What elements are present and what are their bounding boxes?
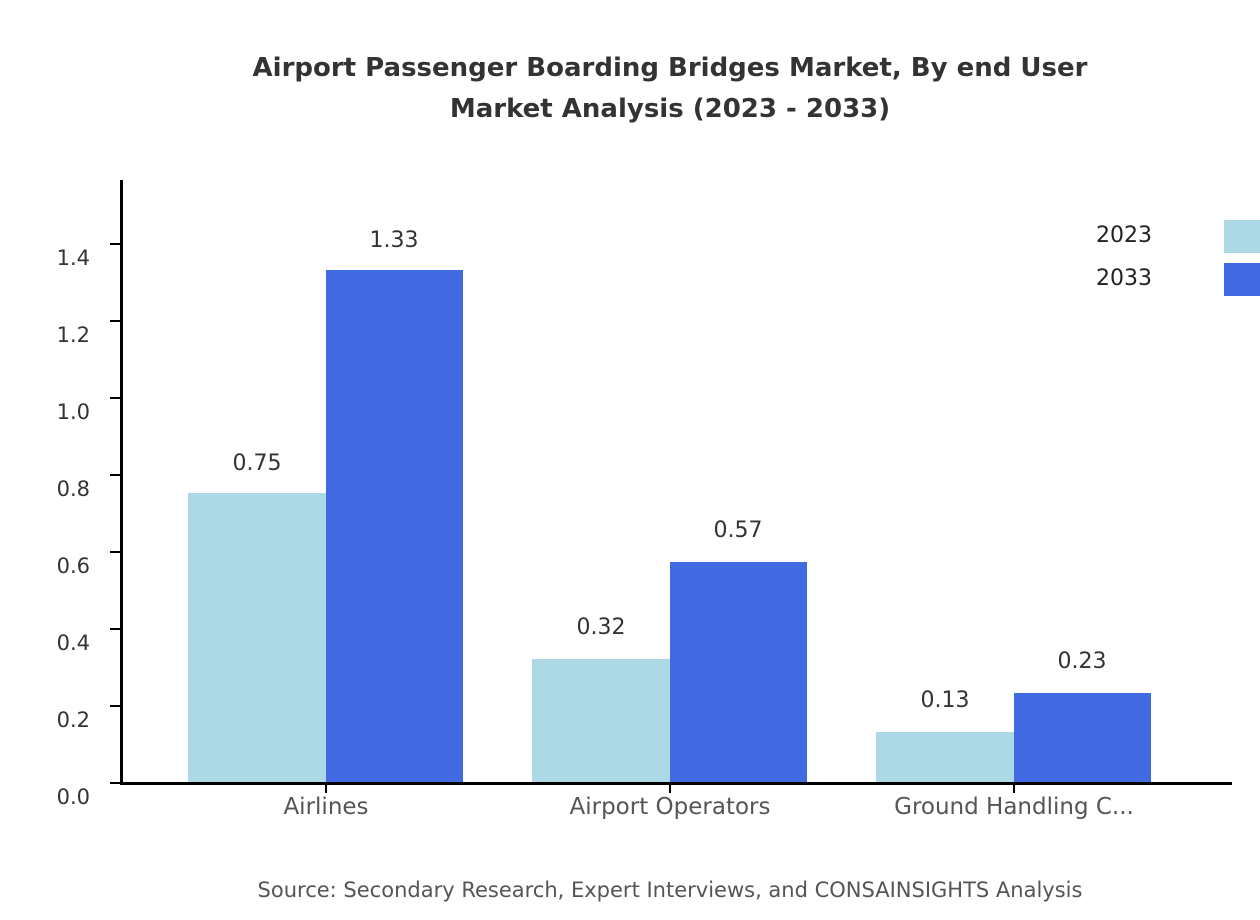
y-tick-label-1.2: 1.2 xyxy=(30,325,90,346)
y-tick-mark-1.4 xyxy=(110,243,120,245)
bar-value-airlines-2033: 1.33 xyxy=(314,230,474,252)
y-tick-label-0.0: 0.0 xyxy=(30,787,90,808)
chart-title-line-2: Market Analysis (2023 - 2033) xyxy=(0,89,1260,130)
legend-item-2023[interactable]: 2023 xyxy=(1100,218,1260,261)
y-tick-label-0.8: 0.8 xyxy=(30,479,90,500)
bar-value-airlines-2023: 0.75 xyxy=(177,453,337,475)
y-tick-mark-1.0 xyxy=(110,397,120,399)
source-note: Source: Secondary Research, Expert Inter… xyxy=(0,878,1260,902)
legend-label-2033: 2033 xyxy=(1096,266,1152,291)
bar-airport-operators-2023[interactable] xyxy=(532,659,670,782)
bar-value-ground-handling-2023: 0.13 xyxy=(865,690,1025,712)
x-category-label-ground-handling: Ground Handling C... xyxy=(854,794,1174,820)
x-category-label-airlines: Airlines xyxy=(166,794,486,820)
chart-title-line-1: Airport Passenger Boarding Bridges Marke… xyxy=(0,48,1260,89)
plot-area: 0.75 1.33 Airlines 0.32 0.57 Airport Ope… xyxy=(120,180,1232,782)
bar-airlines-2023[interactable] xyxy=(188,493,326,782)
bar-value-airport-operators-2023: 0.32 xyxy=(521,617,681,639)
y-tick-label-0.2: 0.2 xyxy=(30,710,90,731)
x-category-label-airport-operators: Airport Operators xyxy=(510,794,830,820)
bar-ground-handling-2023[interactable] xyxy=(876,732,1014,782)
y-tick-mark-0.2 xyxy=(110,705,120,707)
legend-item-2033[interactable]: 2033 xyxy=(1100,261,1260,304)
y-tick-label-1.0: 1.0 xyxy=(30,402,90,423)
bar-value-airport-operators-2033: 0.57 xyxy=(658,520,818,542)
y-tick-mark-0.6 xyxy=(110,551,120,553)
y-tick-mark-0.8 xyxy=(110,474,120,476)
y-axis-line xyxy=(120,180,123,782)
legend-label-2023: 2023 xyxy=(1096,223,1152,248)
x-tick-mark-airport-operators xyxy=(669,783,671,793)
bar-value-ground-handling-2033: 0.23 xyxy=(1002,651,1162,673)
y-tick-label-0.4: 0.4 xyxy=(30,633,90,654)
y-tick-mark-0.0 xyxy=(110,782,120,784)
y-tick-mark-1.2 xyxy=(110,320,120,322)
y-tick-label-0.6: 0.6 xyxy=(30,556,90,577)
chart-legend: 2023 2033 xyxy=(1100,218,1260,304)
y-tick-mark-0.4 xyxy=(110,628,120,630)
legend-swatch-2033 xyxy=(1224,263,1260,296)
legend-swatch-2023 xyxy=(1224,220,1260,253)
bar-airport-operators-2033[interactable] xyxy=(670,562,807,782)
chart-figure: Airport Passenger Boarding Bridges Marke… xyxy=(0,0,1260,920)
x-tick-mark-airlines xyxy=(325,783,327,793)
chart-title: Airport Passenger Boarding Bridges Marke… xyxy=(0,48,1260,130)
y-tick-label-1.4: 1.4 xyxy=(30,248,90,269)
bar-airlines-2033[interactable] xyxy=(326,270,463,782)
x-axis-line xyxy=(120,782,1232,785)
x-tick-mark-ground-handling xyxy=(1013,783,1015,793)
bar-ground-handling-2033[interactable] xyxy=(1014,693,1151,782)
